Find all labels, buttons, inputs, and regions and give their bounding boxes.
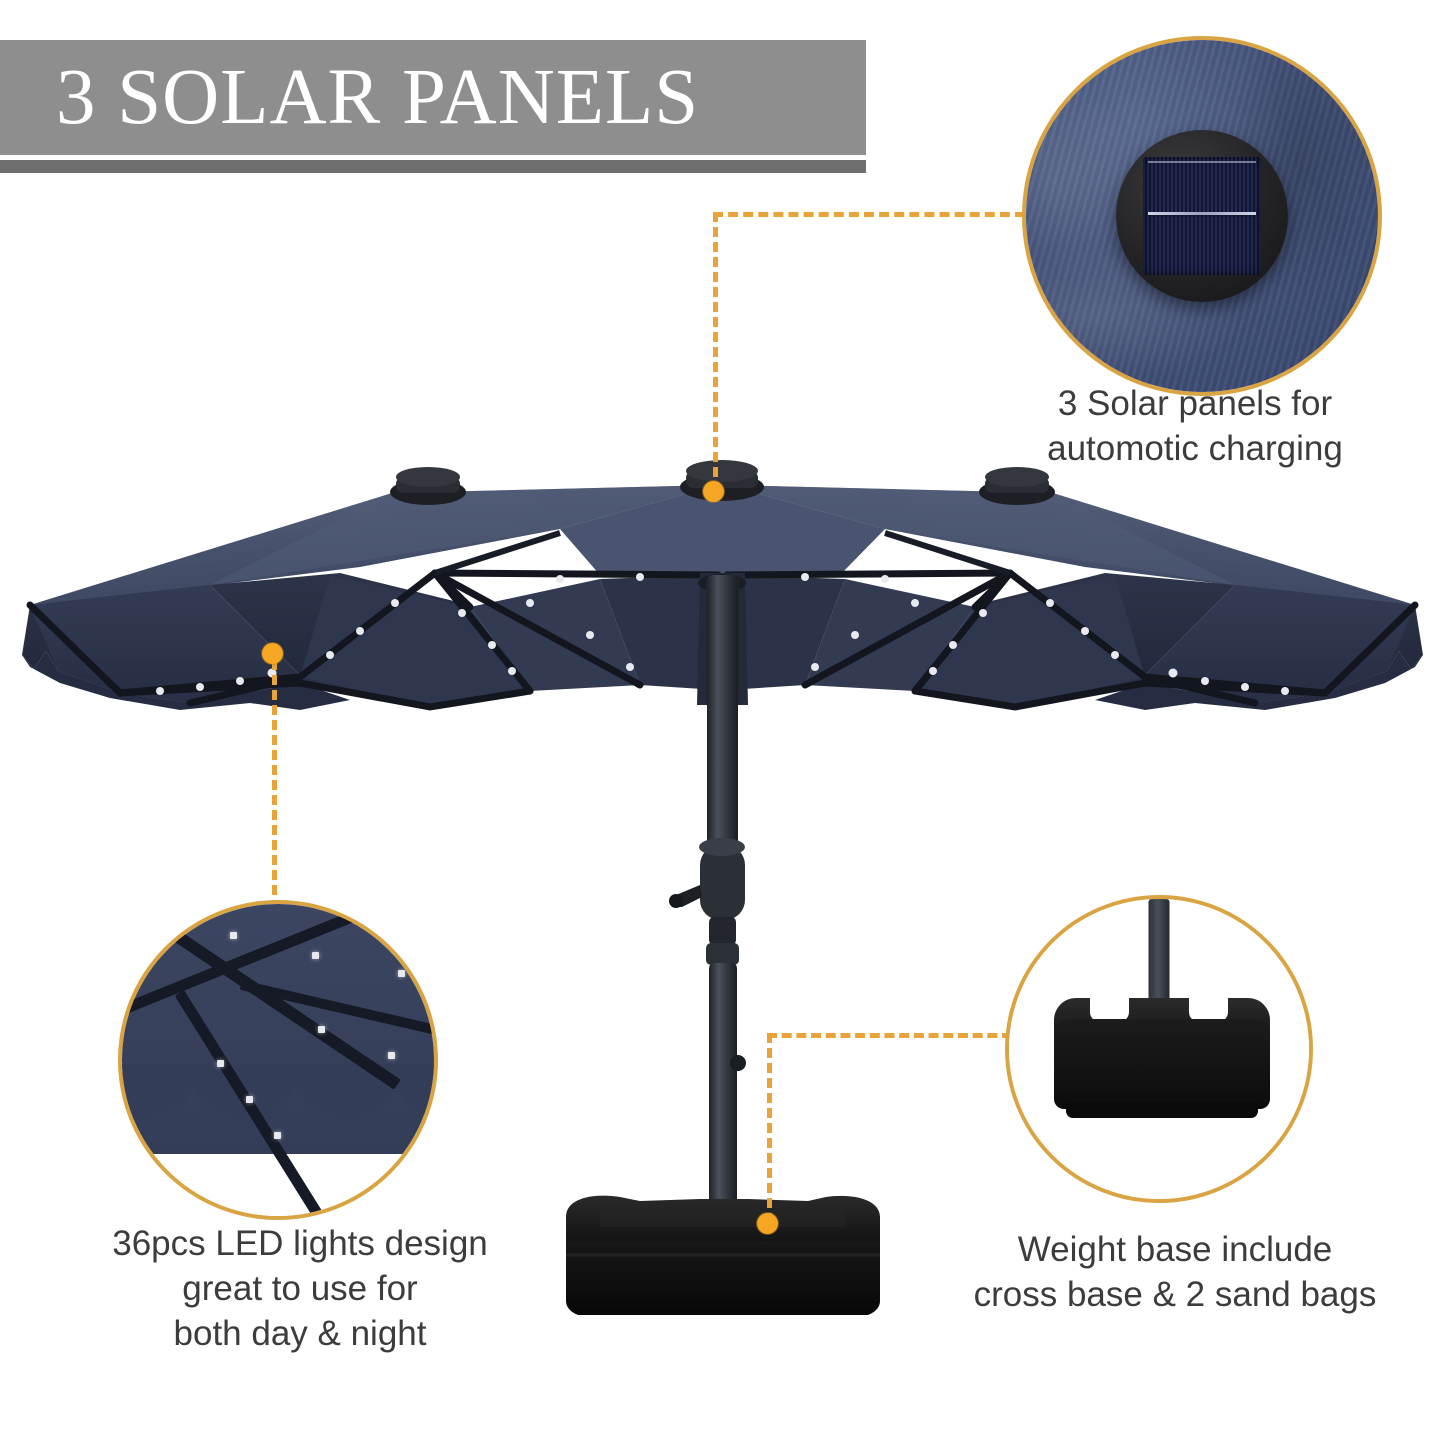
caption-solar-line-1: 3 Solar panels for — [960, 382, 1430, 427]
cross-base-foot — [1066, 1103, 1258, 1118]
weight-base-closeup-circle — [1005, 895, 1313, 1203]
solar-cell-icon — [1143, 157, 1261, 275]
caption-led-lights: 36pcs LED lights design great to use for… — [40, 1222, 560, 1356]
sandbag-body — [1054, 1019, 1270, 1109]
led-underside-scene — [122, 904, 434, 1216]
callout-dot-led — [262, 643, 283, 664]
connector-line-base-horizontal — [767, 1033, 1012, 1038]
connector-line-led-vertical — [272, 660, 277, 910]
caption-weight-base: Weight base include cross base & 2 sand … — [930, 1228, 1420, 1318]
title-banner: 3 SOLAR PANELS — [0, 40, 866, 155]
infographic-canvas: 3 SOLAR PANELS — [0, 0, 1445, 1445]
solar-housing — [1116, 130, 1288, 302]
connector-line-solar-horizontal — [713, 212, 1025, 217]
caption-led-line-2: great to use for — [40, 1267, 560, 1312]
caption-led-line-1: 36pcs LED lights design — [40, 1222, 560, 1267]
page-title: 3 SOLAR PANELS — [56, 58, 699, 137]
sandbag-notch-left — [1090, 995, 1129, 1022]
caption-solar-line-2: automotic charging — [960, 427, 1430, 472]
connector-line-solar-vertical — [713, 212, 718, 492]
led-lights-closeup-circle — [118, 900, 438, 1220]
callout-dot-solar — [703, 481, 724, 502]
sandbag-notch-right — [1189, 995, 1228, 1022]
caption-led-line-3: both day & night — [40, 1312, 560, 1357]
caption-base-line-1: Weight base include — [930, 1228, 1420, 1273]
solar-panel-closeup-circle — [1022, 36, 1382, 396]
callout-dot-base — [757, 1213, 778, 1234]
connector-line-base-vertical — [767, 1033, 772, 1223]
weight-base-scene — [1009, 899, 1309, 1199]
caption-solar-panels: 3 Solar panels for automotic charging — [960, 382, 1430, 472]
title-accent-bar — [0, 160, 866, 173]
caption-base-line-2: cross base & 2 sand bags — [930, 1273, 1420, 1318]
